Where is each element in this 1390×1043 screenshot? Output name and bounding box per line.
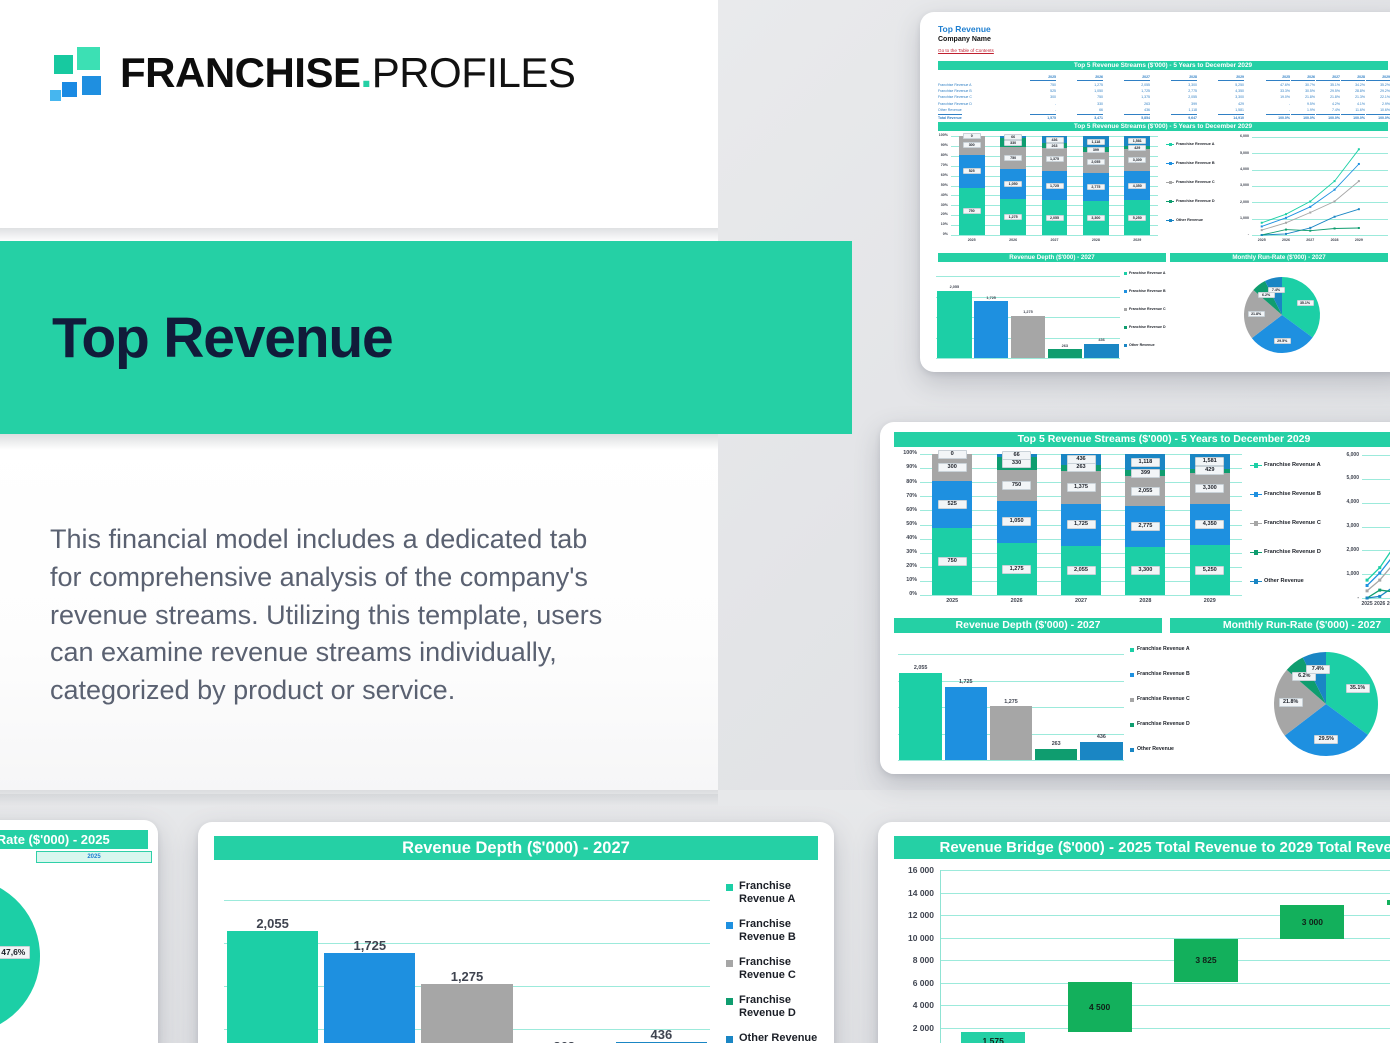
line-series-group: [1332, 452, 1390, 612]
stacked-bar-data-label: 1,581: [1195, 457, 1224, 466]
legend-label: Franchise Revenue D: [1129, 325, 1169, 329]
legend-label: Franchise Revenue C: [1129, 307, 1169, 311]
brand-name-dot: .: [361, 49, 372, 96]
line-chart-mini: -1,0002,0003,0004,0005,0006,000202520262…: [1226, 134, 1390, 247]
stacked-bar-data-label: 3,300: [1131, 566, 1160, 575]
table-total-cell: 1,575: [1030, 114, 1056, 121]
legend-marker: [1169, 219, 1172, 222]
table-total-cell: 14,910: [1218, 114, 1244, 121]
table-total-cell: 3,471: [1077, 114, 1103, 121]
toc-link[interactable]: Go to the Table of Contents: [938, 48, 994, 53]
y-axis-tick-label: 40%: [934, 193, 948, 197]
x-axis-tick-label: 2025: [920, 598, 984, 604]
revenue-depth-bar: [899, 673, 941, 760]
x-axis-tick-label: 2025: [951, 238, 992, 242]
background-panel-top-white: [0, 0, 718, 240]
legend-label: Franchise Revenue B: [1264, 491, 1326, 498]
stacked-bar-chart-mini: 0%10%20%30%40%50%60%70%80%90%100%7505253…: [934, 134, 1162, 247]
logo-square-4: [62, 82, 77, 97]
table-cell-pct: 1.9%: [1291, 107, 1315, 113]
y-axis-tick-label: 70%: [934, 163, 948, 167]
revenue-depth-bar: [1035, 749, 1077, 760]
table-total-cell-pct: 100.0%: [1316, 114, 1340, 121]
table-cell: 1,118: [1171, 107, 1197, 113]
stacked-bar-data-label: 1,050: [1004, 181, 1022, 187]
stacked-bar-data-label: 263: [1067, 463, 1096, 472]
legend-label: Other Revenue: [1176, 218, 1220, 222]
legend-square-swatch: [1124, 344, 1127, 347]
legend-label: Franchise Revenue A: [1176, 142, 1220, 146]
revenue-depth-bar: [990, 706, 1032, 760]
chart-gridline: [940, 1028, 1390, 1029]
stacked-bar-data-label: 3,300: [1087, 215, 1105, 221]
revenue-bridge-screenshot-bottom: Revenue Bridge ($'000) - 2025 Total Reve…: [878, 822, 1390, 1043]
legend-square-swatch: [1130, 723, 1134, 727]
stacked-bar-data-label: 1,375: [1067, 483, 1096, 492]
stacked-bar-data-label: 4,350: [1195, 520, 1224, 529]
bar-value-label: 2,055: [227, 916, 318, 931]
legend-marker: [1169, 181, 1172, 184]
stacked-bar-data-label: 5,250: [1195, 566, 1224, 575]
table-pct-year-header: 2026: [1291, 74, 1315, 81]
chart-gridline: [936, 276, 1120, 277]
stacked-bar-data-label: 330: [1002, 459, 1031, 468]
line-chart-large: -1,0002,0003,0004,0005,0006,000202520262…: [1332, 452, 1390, 612]
line-series-group: [1226, 134, 1390, 247]
stacked-bar-data-label: 1,275: [1004, 214, 1022, 220]
section-title-depth-bottom: Revenue Depth ($'000) - 2027: [214, 836, 818, 860]
bar-value-label: 1,275: [421, 969, 512, 984]
pie-data-label: 7.4%: [1306, 665, 1330, 674]
table-cell-pct: 7.4%: [1316, 107, 1340, 113]
stacked-bar-data-label: 66: [1002, 451, 1031, 460]
y-axis-tick-label: 100%: [934, 133, 948, 137]
pie-chart-mini: 35.1%29.5%21.8%6.2%7.4%: [1176, 266, 1388, 364]
table-total-cell-pct: 100.0%: [1266, 114, 1290, 121]
legend-square-swatch: [726, 884, 733, 891]
legend-label: Franchise Revenue B: [1176, 161, 1220, 165]
stacked-bar-data-label: 2,775: [1087, 184, 1105, 190]
chart-legend-mini: Franchise Revenue AFranchise Revenue BFr…: [1166, 138, 1222, 242]
bar-value-label: 1,275: [1011, 310, 1046, 314]
x-axis-tick-label: 2029: [1117, 238, 1158, 242]
y-axis-tick-label: 100%: [894, 450, 917, 456]
pie-data-label: 7.4%: [1268, 287, 1285, 293]
stacked-bar-data-label: 1,118: [1087, 139, 1105, 145]
legend-marker: [1254, 550, 1259, 555]
table-year-header: 2027: [1124, 74, 1150, 81]
logo-square-2: [77, 47, 100, 70]
chart-gridline: [940, 1005, 1390, 1006]
legend-label: Franchise Revenue C: [739, 956, 831, 982]
y-axis-tick-label: 70%: [894, 493, 917, 499]
table-total-cell-pct: 100.0%: [1291, 114, 1315, 121]
chart-gridline: [898, 760, 1124, 761]
revenue-depth-bar: [1080, 742, 1122, 760]
divider-shadow-mid: [0, 434, 718, 450]
legend-square-swatch: [1124, 308, 1127, 311]
stacked-bar-data-label: 2,055: [1046, 215, 1064, 221]
stacked-bar-data-label: 1,275: [1002, 565, 1031, 574]
y-axis-tick-label: 30%: [894, 549, 917, 555]
stacked-bar-data-label: 750: [938, 557, 967, 566]
legend-label: Franchise Revenue D: [739, 994, 831, 1020]
section-title-streams-chart: Top 5 Revenue Streams ($'000) - 5 Years …: [938, 122, 1388, 131]
stacked-bar-data-label: 436: [1067, 455, 1096, 464]
pie-screenshot-bottom-left: y Run-Rate ($'000) - 2025 2025 47,6%33,3…: [0, 820, 158, 1043]
revenue-depth-bar: [937, 291, 972, 358]
y-axis-tick-label: 8 000: [894, 955, 934, 965]
y-axis-tick-label: 30%: [934, 203, 948, 207]
revenue-depth-chart-mini: 2,0551,7251,275263436: [934, 266, 1122, 362]
bar-value-label: 1,725: [974, 296, 1009, 300]
stacked-bar-data-label: 0: [963, 133, 981, 139]
legend-label: Franchise Revenue C: [1137, 696, 1195, 702]
legend-marker: [1254, 492, 1259, 497]
revenue-depth-screenshot-bottom: Revenue Depth ($'000) - 2027 2,0551,7251…: [198, 822, 834, 1043]
y-axis-tick-label: 10%: [934, 222, 948, 226]
table-year-header: 2025: [1030, 74, 1056, 81]
x-axis-tick-label: 2026: [1274, 238, 1298, 242]
revenue-depth-bar: [1048, 349, 1083, 358]
stacked-bar-data-label: 300: [938, 463, 967, 472]
logo-square-3: [82, 76, 101, 95]
y-axis-tick-label: 90%: [894, 464, 917, 470]
stacked-bar-data-label: 1,725: [1046, 183, 1064, 189]
stacked-bar-data-label: 4,350: [1128, 183, 1146, 189]
table-pct-year-header: 2028: [1341, 74, 1365, 81]
x-axis-tick-label: 2028: [1113, 598, 1177, 604]
revenue-depth-bar: [421, 984, 512, 1043]
stacked-bar-data-label: 399: [1087, 147, 1105, 153]
table-total-cell-pct: 100.0%: [1366, 114, 1390, 121]
sheet-company: Company Name: [938, 35, 991, 44]
y-axis-line: [940, 870, 941, 1043]
stacked-bar-data-label: 750: [1004, 155, 1022, 161]
table-cell: 66: [1077, 107, 1103, 113]
x-axis-tick-label: 2026: [992, 238, 1033, 242]
page-title: Top Revenue: [52, 310, 392, 367]
table-cell: -: [1030, 107, 1056, 113]
section-title-runrate-large: Monthly Run-Rate ($'000) - 2027: [1170, 618, 1390, 633]
legend-square-swatch: [1124, 326, 1127, 329]
x-axis-tick-label: 2029: [1347, 238, 1371, 242]
section-title-runrate-2025: y Run-Rate ($'000) - 2025: [0, 830, 148, 849]
stacked-bar-data-label: 66: [1004, 134, 1022, 140]
y-axis-tick-label: 16 000: [894, 865, 934, 875]
y-axis-tick-label: 4 000: [894, 1000, 934, 1010]
table-total-label: Total Revenue: [938, 114, 962, 121]
legend-label: Other Revenue: [1264, 578, 1326, 585]
y-axis-tick-label: 50%: [894, 521, 917, 527]
stacked-bar-data-label: 525: [963, 168, 981, 174]
table-year-header: 2028: [1171, 74, 1197, 81]
stacked-bar-chart-large: 0%10%20%30%40%50%60%70%80%90%100%7505253…: [894, 452, 1246, 612]
legend-label: Other Revenue: [1137, 746, 1195, 752]
stacked-bar-data-label: 330: [1004, 140, 1022, 146]
x-axis-tick-label: 2025: [1250, 238, 1274, 242]
y-axis-tick-label: 0%: [894, 591, 917, 597]
stacked-bar-data-label: 429: [1128, 145, 1146, 151]
divider-shadow-bottom: [0, 790, 718, 806]
legend-marker: [1169, 162, 1172, 165]
legend-label: Franchise Revenue A: [1129, 271, 1169, 275]
legend-marker: [1169, 200, 1172, 203]
legend-label: Franchise Revenue A: [1137, 646, 1195, 652]
bar-value-label: 1,275: [990, 699, 1032, 705]
legend-label: Franchise Revenue D: [1264, 549, 1326, 556]
legend-marker: [1254, 579, 1259, 584]
table-total-cell: 5,854: [1124, 114, 1150, 121]
section-title-streams-large: Top 5 Revenue Streams ($'000) - 5 Years …: [894, 432, 1390, 447]
y-axis-tick-label: 2 000: [894, 1023, 934, 1033]
pie-slices-group: [1176, 266, 1388, 364]
stacked-bar-data-label: 2,055: [1131, 487, 1160, 496]
brand-wordmark: FRANCHISE.PROFILES: [120, 44, 575, 102]
y-axis-tick-label: 6 000: [894, 978, 934, 988]
revenue-depth-legend-mini: Franchise Revenue AFranchise Revenue BFr…: [1124, 268, 1170, 360]
y-axis-tick-label: 0%: [934, 232, 948, 236]
stacked-bar-data-label: 3,300: [1195, 484, 1224, 493]
chart-gridline: [940, 960, 1390, 961]
brand-logo: FRANCHISE.PROFILES: [50, 46, 540, 104]
legend-square-swatch: [726, 960, 733, 967]
table-year-header: 2026: [1077, 74, 1103, 81]
logo-square-1: [54, 55, 73, 74]
pie-data-label: 29.5%: [1274, 338, 1291, 344]
section-title-depth-mini: Revenue Depth ($'000) - 2027: [938, 253, 1166, 262]
stacked-bar-data-label: 300: [963, 142, 981, 148]
legend-square-swatch: [1130, 748, 1134, 752]
sheet-title: Top Revenue: [938, 24, 991, 35]
dashboard-screenshot-top-right: Top Revenue Company Name Go to the Table…: [920, 12, 1390, 372]
bar-value-label: 1,725: [324, 938, 415, 953]
pie-data-label: 35.1%: [1346, 684, 1370, 693]
legend-square-swatch: [726, 998, 733, 1005]
y-axis-tick-label: 60%: [934, 173, 948, 177]
revenue-depth-bar: [324, 953, 415, 1043]
stacked-bar-data-label: 0: [938, 450, 967, 459]
x-axis-tick-label: 2029: [1178, 598, 1242, 604]
table-cell-pct: 11.6%: [1341, 107, 1365, 113]
legend-square-swatch: [1130, 673, 1134, 677]
revenue-depth-legend-large: Franchise Revenue AFranchise Revenue BFr…: [1130, 642, 1196, 764]
bar-value-label: 263: [1048, 344, 1083, 348]
chart-gridline: [224, 900, 710, 901]
table-cell: 436: [1124, 107, 1150, 113]
stacked-bar-data-label: 263: [1046, 143, 1064, 149]
stacked-bar-data-label: 2,055: [1067, 566, 1096, 575]
y-axis-tick-label: 60%: [894, 507, 917, 513]
y-axis-tick-label: 20%: [934, 212, 948, 216]
stacked-bar-data-label: 1,581: [1128, 138, 1146, 144]
pie-data-label: 21.8%: [1279, 698, 1303, 707]
bar-value-label: 2,055: [899, 665, 941, 671]
table-cell-pct: -: [1266, 107, 1290, 113]
chart-gridline: [898, 654, 1124, 655]
pie-chart-2025: 47,6%33,3%19,0%0,0%0,0%: [0, 866, 158, 1043]
y-axis-tick-label: 50%: [934, 183, 948, 187]
table-pct-year-header: 2029: [1366, 74, 1390, 81]
table-row-label: Other Revenue: [938, 107, 962, 113]
y-axis-tick-label: 14 000: [894, 888, 934, 898]
logo-squares-icon: [50, 46, 112, 100]
chart-gridline: [920, 595, 1242, 596]
y-axis-tick-label: 40%: [894, 535, 917, 541]
stacked-bar-data-label: 1,118: [1131, 458, 1160, 467]
brand-name-bold: FRANCHISE: [120, 49, 361, 96]
divider-shadow-top: [0, 228, 718, 242]
pie-legend-year: 2025: [36, 851, 152, 863]
bar-value-label: 263: [519, 1039, 610, 1043]
bridge-value-label: 3 000: [1280, 917, 1344, 927]
legend-square-swatch: [1124, 272, 1127, 275]
pie-data-label: 21.8%: [1248, 311, 1265, 317]
bar-value-label: 436: [1084, 338, 1119, 342]
stacked-bar-data-label: 750: [963, 208, 981, 214]
stacked-bar-data-label: 5,250: [1128, 215, 1146, 221]
x-axis-tick-label: 2026: [984, 598, 1048, 604]
bridge-value-label: 1 575: [961, 1036, 1025, 1043]
pie-data-label: 35.1%: [1297, 300, 1314, 306]
revenue-depth-chart-bottom: 2,0551,7251,275263436: [220, 870, 712, 1043]
revenue-streams-table: 2025202520262026202720272028202820292029…: [938, 74, 1388, 119]
revenue-depth-bar: [1011, 316, 1046, 358]
stacked-bar-data-label: 2,775: [1131, 522, 1160, 531]
legend-label: Franchise Revenue A: [1264, 462, 1326, 469]
sheet-heading: Top Revenue Company Name: [938, 24, 991, 45]
table-pct-year-header: 2027: [1316, 74, 1340, 81]
y-axis-tick-label: 12 000: [894, 910, 934, 920]
stacked-bar-data-label: 399: [1131, 469, 1160, 478]
stacked-bar-data-label: 1,375: [1046, 156, 1064, 162]
bridge-value-label: 3 825: [1174, 955, 1238, 965]
legend-marker: [1254, 521, 1259, 526]
revenue-bridge-chart: -2 0004 0006 0008 00010 00012 00014 0001…: [894, 866, 1390, 1043]
legend-label: Franchise Revenue D: [1176, 199, 1220, 203]
x-axis-tick-label: 2028: [1075, 238, 1116, 242]
section-title-runrate-mini: Monthly Run-Rate ($'000) - 2027: [1170, 253, 1388, 262]
y-axis-tick-label: 10%: [894, 577, 917, 583]
stacked-bar-data-label: 525: [938, 500, 967, 509]
table-year-header: 2029: [1218, 74, 1244, 81]
bar-value-label: 2,055: [937, 285, 972, 289]
legend-square-swatch: [1130, 698, 1134, 702]
section-title-streams-table: Top 5 Revenue Streams ($'000) - 5 Years …: [938, 61, 1388, 70]
stacked-bar-data-label: 3,300: [1128, 157, 1146, 163]
pie-data-label: 47,6%: [0, 946, 30, 959]
stacked-bar-data-label: 429: [1195, 466, 1224, 475]
section-title-bridge: Revenue Bridge ($'000) - 2025 Total Reve…: [894, 836, 1390, 859]
legend-label: Franchise Revenue B: [739, 918, 831, 944]
y-axis-tick-label: 10 000: [894, 933, 934, 943]
y-axis-tick-label: 20%: [894, 563, 917, 569]
legend-label: Other Revenue: [739, 1032, 831, 1043]
pie-legend-2025: 2025: [36, 851, 152, 863]
x-axis-tick-label: 2027: [1034, 238, 1075, 242]
y-axis-tick-label: 80%: [934, 153, 948, 157]
x-axis-tick-label: 2026: [1373, 601, 1386, 607]
legend-label: Franchise Revenue A: [739, 880, 831, 906]
revenue-depth-bar: [974, 301, 1009, 358]
bar-value-label: 436: [1080, 734, 1122, 740]
y-axis-tick-label: 80%: [894, 479, 917, 485]
chart-gridline: [951, 235, 1158, 236]
legend-square-swatch: [726, 922, 733, 929]
legend-marker: [1169, 143, 1172, 146]
stacked-bar-data-label: 750: [1002, 481, 1031, 490]
description-paragraph: This financial model includes a dedicate…: [50, 521, 610, 710]
table-pct-year-header: 2025: [1266, 74, 1290, 81]
table-total-cell-pct: 100.0%: [1341, 114, 1365, 121]
pie-data-label: 29.5%: [1314, 735, 1338, 744]
section-title-depth-large: Revenue Depth ($'000) - 2027: [894, 618, 1162, 633]
revenue-depth-legend-bottom: Franchise Revenue AFranchise Revenue BFr…: [726, 874, 830, 1043]
x-axis-tick-label: 2027: [1049, 598, 1113, 604]
legend-square-swatch: [726, 1036, 733, 1043]
table-cell-pct: 10.6%: [1366, 107, 1390, 113]
brand-name-thin: PROFILES: [372, 49, 576, 96]
pie-chart-large: 35.1%29.5%21.8%6.2%7.4%: [1210, 636, 1390, 768]
y-axis-tick-label: 90%: [934, 143, 948, 147]
revenue-depth-bar: [1084, 344, 1119, 358]
table-cell: 1,581: [1218, 107, 1244, 113]
x-axis-tick-label: 2025: [1361, 601, 1374, 607]
chart-gridline: [940, 893, 1390, 894]
dashboard-screenshot-middle-right: Top 5 Revenue Streams ($'000) - 5 Years …: [880, 422, 1390, 774]
chart-gridline: [940, 983, 1390, 984]
legend-square-swatch: [1124, 290, 1127, 293]
legend-marker: [1254, 463, 1259, 468]
revenue-depth-bar: [945, 687, 987, 760]
legend-square-swatch: [1130, 648, 1134, 652]
revenue-depth-chart-large: 2,0551,7251,275263436: [896, 640, 1126, 764]
legend-label: Franchise Revenue C: [1264, 520, 1326, 527]
stacked-bar-data-label: 1,725: [1067, 520, 1096, 529]
chart-gridline: [936, 358, 1120, 359]
legend-label: Franchise Revenue C: [1176, 180, 1220, 184]
logo-square-5: [50, 90, 61, 101]
legend-label: Franchise Revenue B: [1129, 289, 1169, 293]
bar-value-label: 263: [1035, 741, 1077, 747]
bar-value-label: 1,725: [945, 679, 987, 685]
table-total-cell: 9,647: [1171, 114, 1197, 121]
legend-label: Franchise Revenue D: [1137, 721, 1195, 727]
stacked-bar-data-label: 436: [1046, 137, 1064, 143]
legend-label: Other Revenue: [1129, 343, 1169, 347]
x-axis-tick-label: 2027: [1386, 601, 1390, 607]
stacked-bar-data-label: 1,050: [1002, 517, 1031, 526]
bar-value-label: 436: [616, 1027, 707, 1042]
bridge-value-label: 4 500: [1068, 1002, 1132, 1012]
stacked-bar-data-label: 2,055: [1087, 159, 1105, 165]
x-axis-tick-label: 2028: [1322, 238, 1346, 242]
x-axis-tick-label: 2027: [1298, 238, 1322, 242]
chart-gridline: [940, 870, 1390, 871]
revenue-depth-bar: [227, 931, 318, 1043]
chart-legend-large: Franchise Revenue AFranchise Revenue BFr…: [1250, 456, 1328, 608]
legend-label: Franchise Revenue B: [1137, 671, 1195, 677]
